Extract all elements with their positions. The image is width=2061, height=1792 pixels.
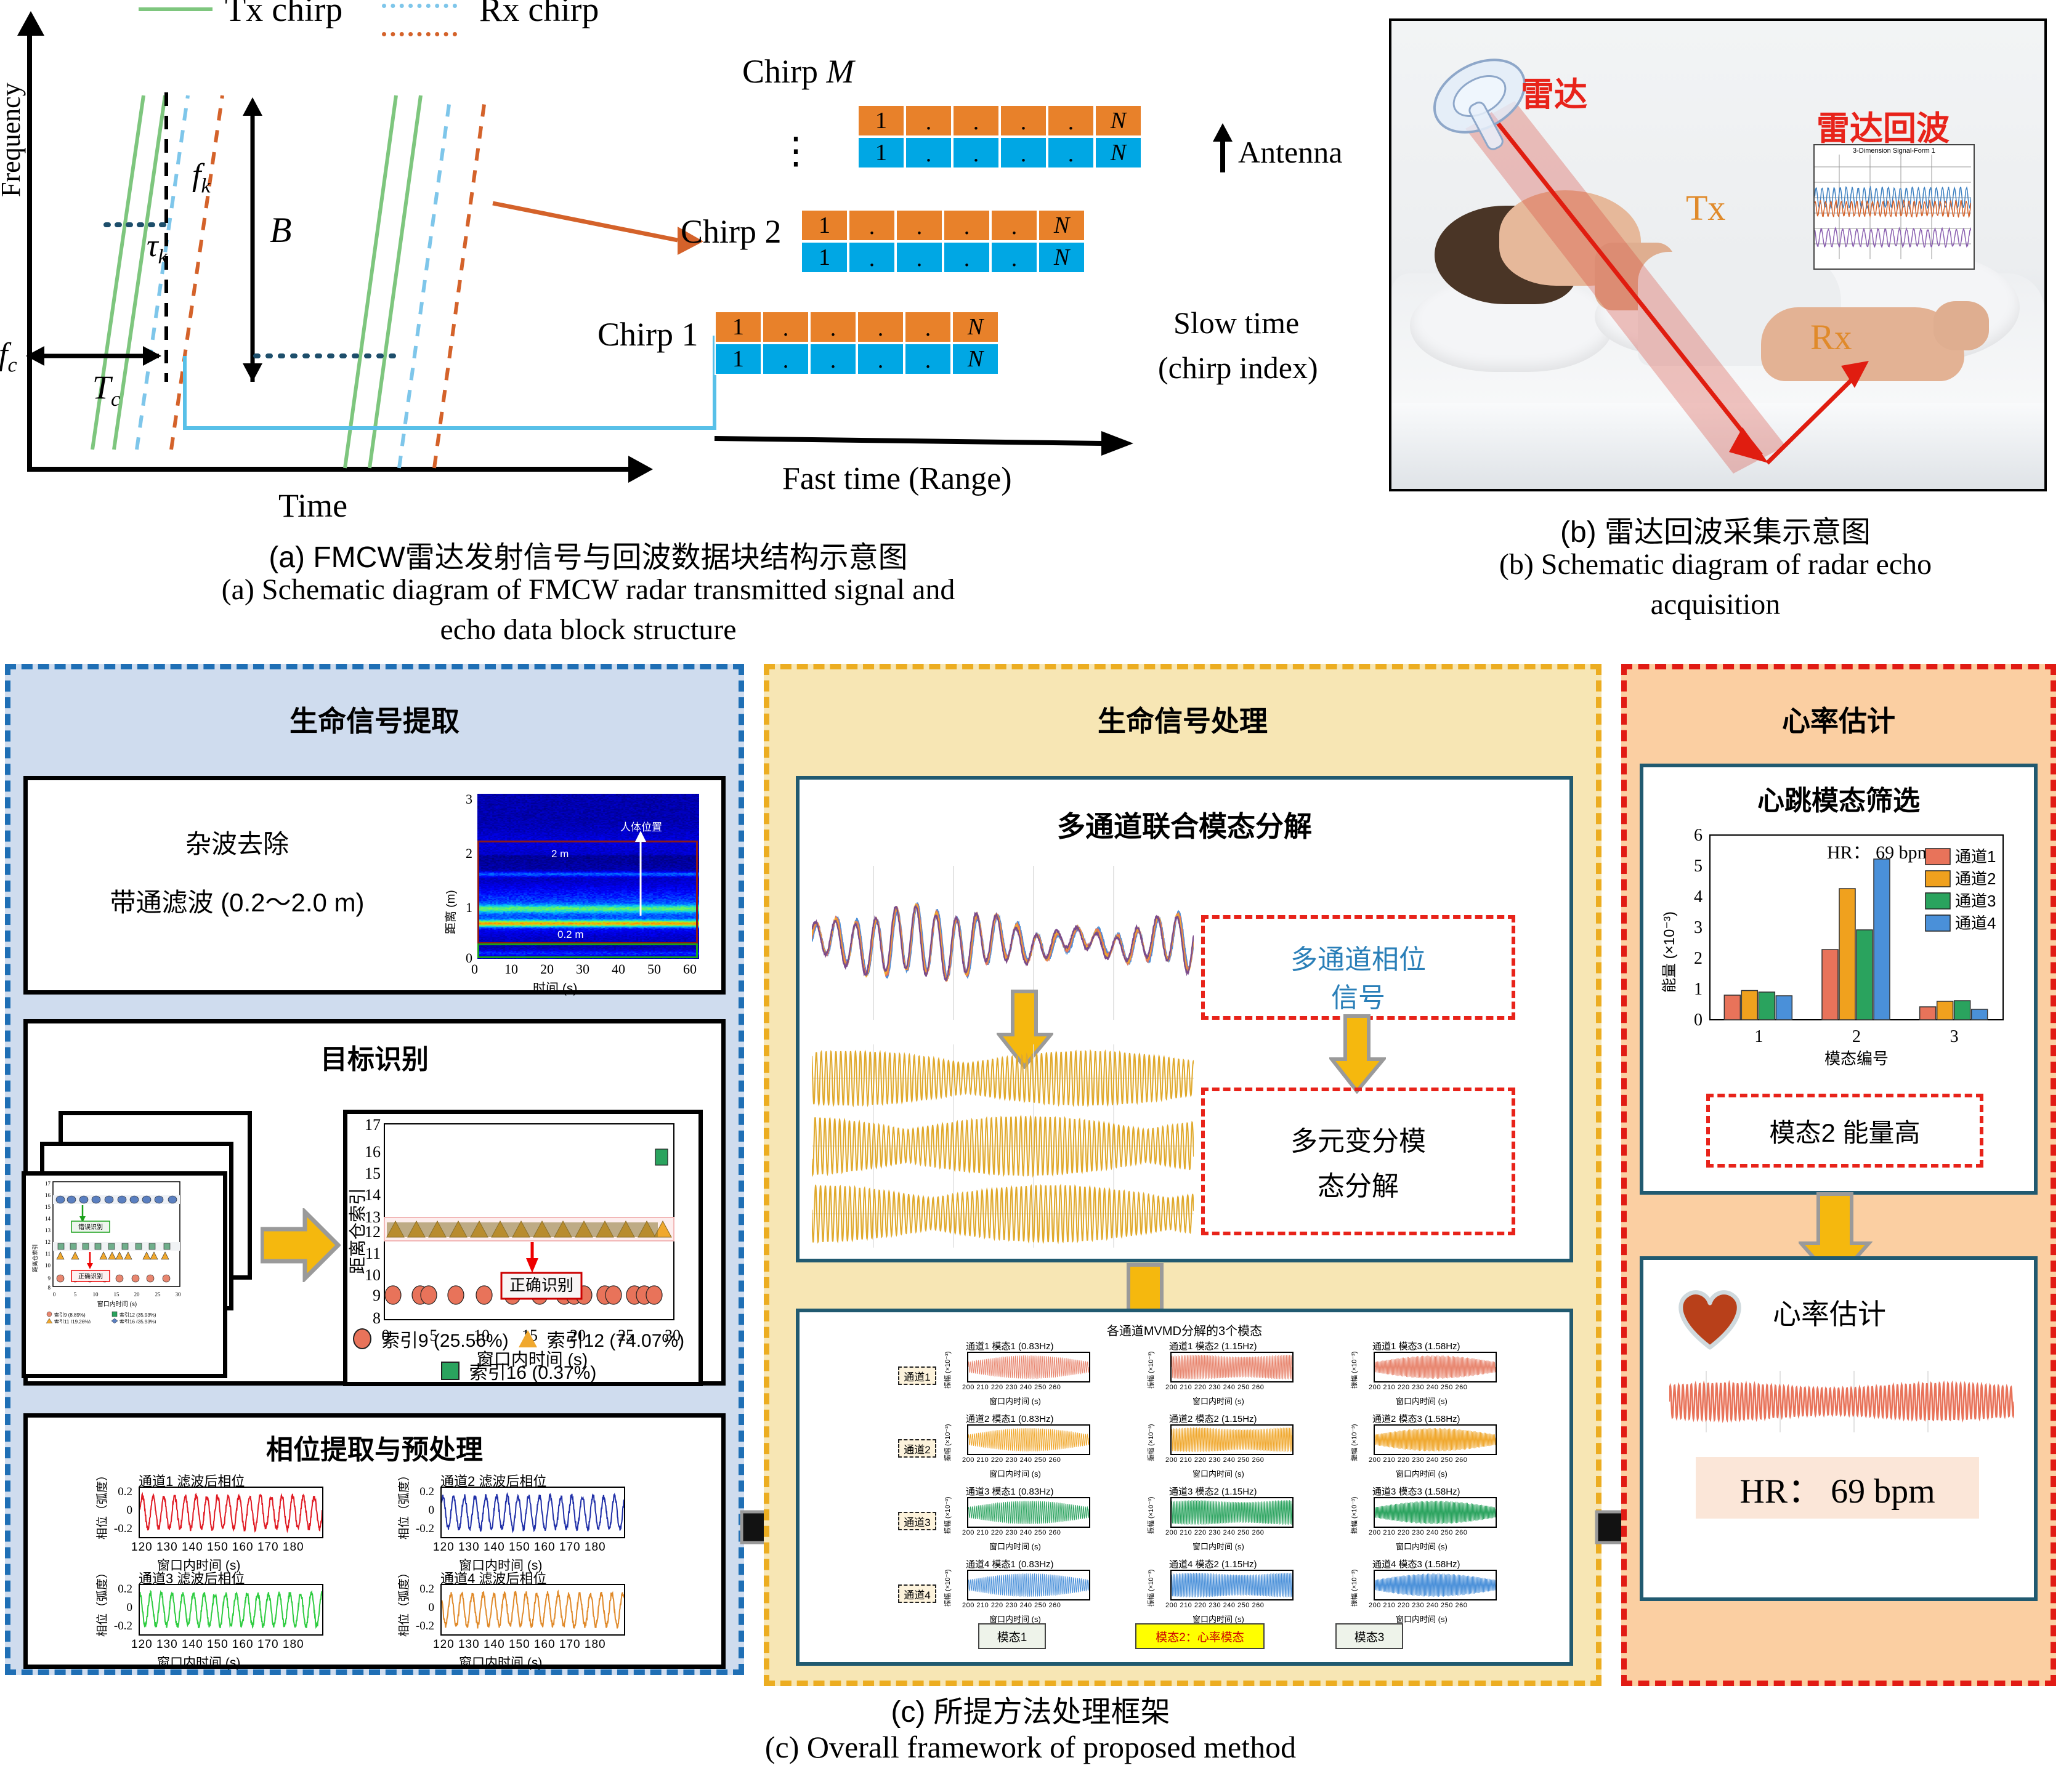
mvmd-subplot-plot bbox=[967, 1497, 1090, 1528]
target-recognition-legend: 索引9 (25.56%) 索引12 (74.07%) 索引16 (0.37%) bbox=[343, 1325, 694, 1384]
data-row-orange: 1 . . . . N bbox=[801, 209, 1085, 241]
slow-time-label-line2: (chirp index) bbox=[1158, 350, 1318, 385]
bar bbox=[1759, 992, 1775, 1020]
symbol-Tc-base: T bbox=[92, 369, 111, 406]
legend-label-index12: 索引12 (74.07%) bbox=[547, 1325, 684, 1352]
bar-chart-legend-label: 通道2 bbox=[1955, 870, 1996, 888]
chirp-m-block: 1 . . . . N 1 . . . . N bbox=[857, 105, 1142, 169]
cell-last: N bbox=[1038, 241, 1085, 273]
legend-row-1: 索引9 (25.56%) 索引12 (74.07%) bbox=[343, 1325, 694, 1352]
mvmd-subplot-plot bbox=[1170, 1424, 1294, 1455]
xtick: 50 bbox=[647, 961, 661, 977]
svg-text:25: 25 bbox=[155, 1291, 161, 1298]
phase-subplot: 通道2 滤波后相位相位（弧度）0.20-0.2120 130 140 150 1… bbox=[391, 1471, 681, 1563]
mvmd-subplot: 通道3 模态1 (0.83Hz)振幅 (×10⁻³)200 210 220 23… bbox=[941, 1485, 1132, 1554]
cell-dot: . bbox=[809, 343, 857, 375]
hr-estimation-title: 心率估计 bbox=[1773, 1292, 1886, 1333]
spectrogram-xlabel: 时间 (s) bbox=[533, 979, 577, 997]
cell-first: 1 bbox=[715, 311, 762, 343]
bar-chart-ylabel: 能量 (×10⁻³) bbox=[1661, 911, 1678, 993]
cell-dot: . bbox=[1047, 105, 1095, 137]
tag-multivariate-vmd: 多元变分模 态分解 bbox=[1201, 1088, 1515, 1235]
chirp-1-block: 1 . . . . N 1 . . . . N bbox=[715, 311, 999, 375]
mvmd-subplot-title: 通道3 模态1 (0.83Hz) bbox=[966, 1485, 1054, 1498]
svg-text:10: 10 bbox=[93, 1291, 99, 1298]
legend-small-2: 索引12 (35.93%) bbox=[119, 1312, 156, 1318]
mvmd-subplot-xlabel: 窗口内时间 (s) bbox=[1192, 1467, 1244, 1479]
b-arrow-up bbox=[243, 97, 262, 116]
yellow-arrow-down-right bbox=[1329, 1014, 1386, 1094]
mvmd-row-label: 通道2 bbox=[898, 1439, 936, 1458]
slow-time-label-line1: Slow time bbox=[1173, 305, 1299, 341]
cell-dot: . bbox=[896, 209, 943, 241]
cell-last: N bbox=[952, 343, 999, 375]
bar-chart-ytick: 5 bbox=[1694, 857, 1703, 876]
spectrogram-yticks: 3 2 1 0 bbox=[453, 791, 472, 958]
heatmap-annot-2m: 2 m bbox=[551, 848, 569, 860]
radar-dish-icon bbox=[1427, 53, 1532, 188]
phase-subplot-plot bbox=[440, 1487, 625, 1538]
mvmd-subplot-xlabel: 窗口内时间 (s) bbox=[1192, 1540, 1244, 1552]
mvmd-subplot-xticks: 200 210 220 230 240 250 260 bbox=[962, 1456, 1061, 1464]
panel-c-framework: 生命信号提取 杂波去除 带通滤波 (0.2～2.0 m) 距离 (m) 3 2 … bbox=[0, 640, 2061, 1687]
mvmd-row-label: 通道3 bbox=[898, 1512, 936, 1530]
bar bbox=[1972, 1009, 1988, 1020]
heatmap-green-roi bbox=[477, 943, 698, 958]
panel-a-caption-en-1: (a) Schematic diagram of FMCW radar tran… bbox=[0, 573, 1176, 607]
antenna-label: Antenna bbox=[1238, 134, 1342, 170]
bar-chart-ytick: 6 bbox=[1694, 826, 1703, 845]
mvmd-subplot-xlabel: 窗口内时间 (s) bbox=[1396, 1467, 1448, 1479]
symbol-B: B bbox=[270, 209, 291, 251]
phase-subplot-xticks: 120 130 140 150 160 170 180 bbox=[433, 1541, 636, 1554]
mvmd-subplot-plot bbox=[1170, 1570, 1294, 1600]
panel-b-caption-cn: (b) 雷达回波采集示意图 bbox=[1389, 507, 2042, 551]
fast-time-arrow bbox=[708, 425, 1140, 456]
mvmd-subplot-xticks: 200 210 220 230 240 250 260 bbox=[1369, 1456, 1467, 1464]
phase-subplot-xlabel: 窗口内时间 (s) bbox=[157, 1653, 240, 1671]
mode-tag-2-heart-rate: 模态2：心率模态 bbox=[1135, 1623, 1265, 1649]
mvmd-subplot-xlabel: 窗口内时间 (s) bbox=[989, 1467, 1041, 1479]
bar-chart-svg: 0123456123模态编号能量 (×10⁻³)HR： 69 bpm通道1通道2… bbox=[1653, 820, 2031, 1079]
symbol-tau-base: τ bbox=[147, 228, 158, 264]
phase-subplot-xlabel: 窗口内时间 (s) bbox=[459, 1653, 542, 1671]
mvmd-subplot-plot bbox=[967, 1570, 1090, 1600]
region-title-extraction: 生命信号提取 bbox=[10, 699, 739, 740]
cell-dot: . bbox=[848, 209, 896, 241]
bar bbox=[1822, 950, 1838, 1020]
tag-mode2-high-energy: 模态2 能量高 bbox=[1706, 1094, 1983, 1168]
card-clutter-removal: 杂波去除 带通滤波 (0.2～2.0 m) 距离 (m) 3 2 1 0 2 m… bbox=[23, 776, 726, 995]
mvmd-bottom-tags: 模态1 模态2：心率模态 模态3 bbox=[800, 1623, 1569, 1652]
legend-small-3: 索引11 (19.26%) bbox=[54, 1318, 91, 1323]
xtick: 10 bbox=[504, 961, 518, 977]
cell-last: N bbox=[952, 311, 999, 343]
phase-subplot: 通道1 滤波后相位相位（弧度）0.20-0.2120 130 140 150 1… bbox=[89, 1471, 379, 1563]
phase-subplot-yticks: 0.20-0.2 bbox=[407, 1585, 435, 1632]
bar-chart-xtick: 2 bbox=[1852, 1027, 1861, 1046]
mvmd-subplot: 通道1 模态2 (1.15Hz)振幅 (×10⁻³)200 210 220 23… bbox=[1144, 1339, 1335, 1408]
mode-tag-1: 模态1 bbox=[978, 1623, 1046, 1649]
mvmd-subplot-xticks: 200 210 220 230 240 250 260 bbox=[1165, 1602, 1264, 1609]
svg-text:错误识别: 错误识别 bbox=[78, 1223, 103, 1231]
cell-first: 1 bbox=[857, 105, 905, 137]
bar-chart-ytick: 1 bbox=[1694, 980, 1703, 999]
panel-c-caption-en: (c) Overall framework of proposed method bbox=[0, 1729, 2061, 1765]
svg-text:16: 16 bbox=[45, 1192, 51, 1198]
mvmd-subplot-title: 通道3 模态3 (1.58Hz) bbox=[1372, 1485, 1460, 1498]
callout-correct-recognition: 正确识别 bbox=[509, 1276, 573, 1294]
bar-chart-ytick: 2 bbox=[1694, 949, 1703, 968]
phase-subplot-grid: 通道1 滤波后相位相位（弧度）0.20-0.2120 130 140 150 1… bbox=[89, 1471, 681, 1661]
mvmd-subplot-xticks: 200 210 220 230 240 250 260 bbox=[962, 1529, 1061, 1536]
panel-a-fmcw-diagram: Tx chirp Rx chirp Frequency Time bbox=[0, 0, 1324, 622]
mvmd-subplot-title: 通道1 模态1 (0.83Hz) bbox=[966, 1339, 1054, 1352]
cell-dot: . bbox=[905, 105, 952, 137]
ytick: 2 bbox=[466, 846, 472, 862]
card-title-mode-selection: 心跳模态筛选 bbox=[1643, 778, 2034, 818]
svg-text:正确识别: 正确识别 bbox=[78, 1272, 103, 1280]
svg-text:13: 13 bbox=[45, 1227, 51, 1233]
cell-last: N bbox=[1095, 105, 1142, 137]
tag-line2: 信号 bbox=[1205, 975, 1512, 1015]
xtick: 40 bbox=[612, 961, 625, 977]
bar bbox=[1874, 859, 1890, 1020]
cell-last: N bbox=[1095, 137, 1142, 169]
mvmd-subplot-plot bbox=[1170, 1497, 1294, 1528]
mvmd-subplot-xlabel: 窗口内时间 (s) bbox=[1396, 1540, 1448, 1552]
chirp-m-word: Chirp bbox=[742, 53, 818, 90]
bar bbox=[1741, 991, 1757, 1020]
rx-label: Rx bbox=[1810, 317, 1852, 358]
bar-chart-legend-swatch bbox=[1925, 871, 1950, 887]
clutter-text-line2: 带通滤波 (0.2～2.0 m) bbox=[40, 882, 434, 919]
phase-subplot-xticks: 120 130 140 150 160 170 180 bbox=[131, 1541, 334, 1554]
bar-chart-xtick: 1 bbox=[1754, 1027, 1763, 1046]
symbol-tau-sub: k bbox=[158, 245, 168, 268]
cell-dot: . bbox=[990, 241, 1038, 273]
mvmd-row-label: 通道4 bbox=[898, 1584, 936, 1603]
tc-arrow-left bbox=[26, 346, 44, 366]
symbol-fc-sub: c bbox=[7, 353, 17, 376]
data-row-blue: 1 . . . . N bbox=[801, 241, 1085, 273]
echo-mini-plot-traces bbox=[1815, 155, 1971, 259]
svg-text:0: 0 bbox=[53, 1291, 56, 1298]
mode-signal-traces bbox=[812, 1044, 1194, 1248]
symbol-fc-base: f bbox=[0, 337, 7, 372]
svg-text:17: 17 bbox=[45, 1181, 51, 1187]
card-title-target-recognition: 目标识别 bbox=[28, 1037, 721, 1076]
mvmd-subplot: 通道3 模态2 (1.15Hz)振幅 (×10⁻³)200 210 220 23… bbox=[1144, 1485, 1335, 1554]
phase-subplot-xticks: 120 130 140 150 160 170 180 bbox=[131, 1638, 334, 1652]
data-row-orange: 1 . . . . N bbox=[715, 311, 999, 343]
cell-dot: . bbox=[943, 209, 990, 241]
card-title-joint-decomposition: 多通道联合模态分解 bbox=[800, 804, 1569, 845]
panel-b-caption-en-1: (b) Schematic diagram of radar echo bbox=[1389, 547, 2042, 581]
card-multichannel-decomposition: 多通道联合模态分解 多通道相位 信号 bbox=[796, 776, 1573, 1262]
phase-subplot-xticks: 120 130 140 150 160 170 180 bbox=[433, 1638, 636, 1652]
b-arrow-down bbox=[243, 363, 262, 382]
heatmap-annot-02m: 0.2 m bbox=[557, 929, 584, 941]
mvmd-subplot-xticks: 200 210 220 230 240 250 260 bbox=[1165, 1529, 1264, 1536]
stacked-plot-1-content: 错误识别 正确识别 17161514 13121110 98 051015 20… bbox=[26, 1178, 214, 1323]
svg-text:11: 11 bbox=[365, 1245, 381, 1262]
symbol-Tc: Tc bbox=[92, 368, 120, 411]
svg-text:15: 15 bbox=[114, 1291, 120, 1298]
data-row-blue: 1 . . . . N bbox=[715, 343, 999, 375]
mvmd-subplot: 通道1 模态3 (1.58Hz)振幅 (×10⁻³)200 210 220 23… bbox=[1348, 1339, 1539, 1408]
panel-c-caption-cn: (c) 所提方法处理框架 bbox=[0, 1687, 2061, 1730]
bar-chart-legend-swatch bbox=[1925, 915, 1950, 931]
radar-echo-label: 雷达回波 bbox=[1816, 101, 1950, 150]
mvmd-subplot: 通道2 模态1 (0.83Hz)振幅 (×10⁻³)200 210 220 23… bbox=[941, 1412, 1132, 1481]
mvmd-subplot-title: 通道2 模态1 (0.83Hz) bbox=[966, 1412, 1054, 1425]
mvmd-subplot-title: 通道1 模态3 (1.58Hz) bbox=[1372, 1339, 1460, 1352]
mvmd-subplot-grid: 通道1通道1 模态1 (0.83Hz)振幅 (×10⁻³)200 210 220… bbox=[800, 1336, 1569, 1625]
tag-line1: 多通道相位 bbox=[1205, 937, 1512, 977]
cell-dot: . bbox=[809, 311, 857, 343]
mvmd-subplot: 通道1 模态1 (0.83Hz)振幅 (×10⁻³)200 210 220 23… bbox=[941, 1339, 1132, 1408]
svg-text:20: 20 bbox=[134, 1291, 140, 1298]
cell-dot: . bbox=[904, 311, 952, 343]
cell-first: 1 bbox=[715, 343, 762, 375]
cell-dot: . bbox=[943, 241, 990, 273]
mvmd-subplot-title: 通道4 模态2 (1.15Hz) bbox=[1169, 1557, 1257, 1570]
bar-chart-legend-label: 通道1 bbox=[1955, 847, 1996, 866]
mvmd-subplot-xticks: 200 210 220 230 240 250 260 bbox=[1165, 1384, 1264, 1391]
bar-chart-legend-label: 通道3 bbox=[1955, 892, 1996, 910]
bar bbox=[1724, 995, 1740, 1020]
echo-mini-plot-title: 3-Dimension Signal-Form 1 bbox=[1815, 145, 1974, 155]
region-title-processing: 生命信号处理 bbox=[769, 699, 1596, 740]
svg-text:窗口内时间 (s): 窗口内时间 (s) bbox=[97, 1300, 137, 1308]
symbol-fc: fc bbox=[0, 336, 17, 377]
bar-chart-ytick: 3 bbox=[1694, 918, 1703, 937]
mvmd-subplot-xticks: 200 210 220 230 240 250 260 bbox=[962, 1602, 1061, 1609]
mvmd-subplot: 通道4 模态2 (1.15Hz)振幅 (×10⁻³)200 210 220 23… bbox=[1144, 1557, 1335, 1626]
card-hr-estimation-result: 心率估计 HR： 69 bpm bbox=[1640, 1256, 2038, 1601]
legend-small-1: 索引9 (8.89%) bbox=[54, 1312, 86, 1318]
bar bbox=[1954, 1001, 1970, 1020]
svg-text:16: 16 bbox=[365, 1143, 381, 1161]
cell-dot: . bbox=[1047, 137, 1095, 169]
mvmd-subplot-plot bbox=[1374, 1424, 1497, 1455]
bar-chart-ytick: 0 bbox=[1694, 1011, 1703, 1030]
svg-text:10: 10 bbox=[45, 1262, 51, 1269]
cell-dot: . bbox=[762, 311, 809, 343]
chirp-2-block: 1 . . . . N 1 . . . . N bbox=[801, 209, 1085, 273]
card-title-phase-extraction: 相位提取与预处理 bbox=[28, 1427, 721, 1467]
chirp-m-index: M bbox=[827, 53, 854, 90]
range-time-heatmap: 2 m 0.2 m 人体位置 bbox=[477, 794, 699, 959]
svg-text:12: 12 bbox=[45, 1239, 51, 1245]
tx-label: Tx bbox=[1686, 187, 1725, 228]
cell-dot: . bbox=[905, 137, 952, 169]
mvmd-subplot-plot bbox=[967, 1352, 1090, 1382]
phase-subplot-plot bbox=[139, 1487, 323, 1538]
mvmd-subplot-title: 通道4 模态1 (0.83Hz) bbox=[966, 1557, 1054, 1570]
mvmd-subplot-xticks: 200 210 220 230 240 250 260 bbox=[1369, 1529, 1467, 1536]
mvmd-subplot: 通道2 模态2 (1.15Hz)振幅 (×10⁻³)200 210 220 23… bbox=[1144, 1412, 1335, 1481]
legend-row-2: 索引16 (0.37%) bbox=[343, 1357, 694, 1384]
svg-text:17: 17 bbox=[365, 1116, 381, 1134]
bar bbox=[1776, 996, 1792, 1020]
tag-multichannel-phase-signal: 多通道相位 信号 bbox=[1201, 915, 1515, 1020]
ytick: 3 bbox=[466, 791, 472, 807]
symbol-fk: fk bbox=[192, 157, 211, 198]
bar-chart-hr-annotation: HR： 69 bpm bbox=[1827, 842, 1932, 863]
panel-b-caption-en-2: acquisition bbox=[1389, 587, 2042, 621]
symbol-Tc-sub: c bbox=[111, 388, 120, 411]
mvmd-subplot: 通道2 模态3 (1.58Hz)振幅 (×10⁻³)200 210 220 23… bbox=[1348, 1412, 1539, 1481]
heatmap-red-roi bbox=[477, 841, 698, 944]
stacked-plot-1: 错误识别 正确识别 17161514 13121110 98 051015 20… bbox=[22, 1171, 227, 1378]
ytick: 1 bbox=[466, 900, 472, 916]
cell-first: 1 bbox=[857, 137, 905, 169]
mvmd-subplot-plot bbox=[1170, 1352, 1294, 1382]
card-phase-extraction: 相位提取与预处理 通道1 滤波后相位相位（弧度）0.20-0.2120 130 … bbox=[23, 1413, 726, 1669]
target-plot-ylabel: 距离仓索引 bbox=[348, 1188, 367, 1274]
mvmd-subplot-xticks: 200 210 220 230 240 250 260 bbox=[1369, 1384, 1467, 1391]
mvmd-subplot: 通道4 模态3 (1.58Hz)振幅 (×10⁻³)200 210 220 23… bbox=[1348, 1557, 1539, 1626]
mvmd-subplot-xlabel: 窗口内时间 (s) bbox=[1396, 1395, 1448, 1407]
bar-chart-legend-label: 通道4 bbox=[1955, 914, 1996, 932]
bar-chart-legend-swatch bbox=[1925, 849, 1950, 865]
tag2-line2: 态分解 bbox=[1205, 1164, 1512, 1203]
cell-dot: . bbox=[952, 105, 1000, 137]
chirp-lines bbox=[0, 0, 739, 493]
bar-chart-xtick: 3 bbox=[1950, 1027, 1959, 1046]
svg-text:9: 9 bbox=[373, 1286, 381, 1304]
chirp-m-label: Chirp M bbox=[742, 52, 854, 91]
mvmd-subplot-title: 通道2 模态3 (1.58Hz) bbox=[1372, 1412, 1460, 1425]
phase-subplot-yticks: 0.20-0.2 bbox=[105, 1585, 134, 1632]
chirp-1-label: Chirp 1 bbox=[597, 315, 698, 353]
bar-chart-xlabel: 模态编号 bbox=[1824, 1049, 1889, 1068]
svg-text:距离仓索引: 距离仓索引 bbox=[31, 1244, 38, 1272]
tag-mode2-text: 模态2 能量高 bbox=[1710, 1097, 1980, 1164]
mvmd-subplot-plot bbox=[1374, 1352, 1497, 1382]
radar-label: 雷达 bbox=[1521, 67, 1587, 116]
legend-label-index9: 索引9 (25.56%) bbox=[381, 1325, 509, 1352]
heatmap-body-arrow bbox=[631, 829, 650, 916]
cell-dot: . bbox=[952, 137, 1000, 169]
data-row-blue: 1 . . . . N bbox=[857, 137, 1142, 169]
bar-chart-ytick: 4 bbox=[1694, 887, 1703, 906]
figure-root: Tx chirp Rx chirp Frequency Time bbox=[0, 0, 2061, 1792]
mvmd-subplot: 通道4 模态1 (0.83Hz)振幅 (×10⁻³)200 210 220 23… bbox=[941, 1557, 1132, 1626]
chirp-vertical-dots: ⋮ bbox=[777, 129, 814, 172]
mvmd-subplot-plot bbox=[967, 1424, 1090, 1455]
data-row-orange: 1 . . . . N bbox=[857, 105, 1142, 137]
symbol-fk-sub: k bbox=[201, 174, 210, 197]
mvmd-subplot-xlabel: 窗口内时间 (s) bbox=[989, 1540, 1041, 1552]
svg-text:9: 9 bbox=[48, 1275, 51, 1281]
mode-energy-bar-chart: 0123456123模态编号能量 (×10⁻³)HR： 69 bpm通道1通道2… bbox=[1653, 820, 2031, 1079]
bar-chart-legend-swatch bbox=[1925, 893, 1950, 909]
mvmd-subplot-xticks: 200 210 220 230 240 250 260 bbox=[1165, 1456, 1264, 1464]
svg-text:5: 5 bbox=[74, 1291, 77, 1298]
mvmd-subplot-title: 通道1 模态2 (1.15Hz) bbox=[1169, 1339, 1257, 1352]
cell-dot: . bbox=[857, 343, 904, 375]
mvmd-row-label: 通道1 bbox=[898, 1366, 936, 1385]
cell-first: 1 bbox=[801, 241, 848, 273]
symbol-tau-k: τk bbox=[147, 228, 168, 268]
xtick: 30 bbox=[576, 961, 589, 977]
phase-subplot-yticks: 0.20-0.2 bbox=[407, 1488, 435, 1535]
bar bbox=[1857, 930, 1873, 1020]
card-mvmd-modes-grid: 各通道MVMD分解的3个模态 通道1通道1 模态1 (0.83Hz)振幅 (×1… bbox=[796, 1309, 1573, 1666]
fast-time-label: Fast time (Range) bbox=[782, 461, 1012, 497]
region-title-hr-estimation: 心率估计 bbox=[1627, 699, 2051, 740]
cell-dot: . bbox=[1000, 105, 1047, 137]
svg-text:11: 11 bbox=[45, 1251, 51, 1257]
cell-dot: . bbox=[896, 241, 943, 273]
phase-subplot-plot bbox=[440, 1584, 625, 1636]
echo-mini-plot: 3-Dimension Signal-Form 1 bbox=[1813, 144, 1975, 270]
svg-text:8: 8 bbox=[373, 1309, 381, 1327]
legend-small-4: 索引16 (35.93%) bbox=[119, 1318, 156, 1323]
panel-a-caption-cn: (a) FMCW雷达发射信号与回波数据块结构示意图 bbox=[0, 533, 1176, 576]
mode-tag-3: 模态3 bbox=[1335, 1623, 1403, 1649]
svg-text:30: 30 bbox=[176, 1291, 182, 1298]
hr-value-badge: HR： 69 bpm bbox=[1696, 1457, 1979, 1519]
xtick: 0 bbox=[471, 961, 478, 977]
legend-marker-triangle-icon bbox=[519, 1330, 537, 1347]
mvmd-subplot-plot bbox=[1374, 1570, 1497, 1600]
chirp-2-label: Chirp 2 bbox=[681, 212, 782, 251]
cell-dot: . bbox=[990, 209, 1038, 241]
cell-dot: . bbox=[904, 343, 952, 375]
bar bbox=[1937, 1001, 1953, 1020]
svg-text:8: 8 bbox=[48, 1285, 51, 1291]
mvmd-subplot-plot bbox=[1374, 1497, 1497, 1528]
symbol-fk-base: f bbox=[192, 158, 201, 193]
bar bbox=[1920, 1007, 1936, 1020]
cell-last: N bbox=[1038, 209, 1085, 241]
clutter-text-line1: 杂波去除 bbox=[65, 823, 410, 861]
phase-subplot-yticks: 0.20-0.2 bbox=[105, 1488, 134, 1535]
mvmd-subplot: 通道3 模态3 (1.58Hz)振幅 (×10⁻³)200 210 220 23… bbox=[1348, 1485, 1539, 1554]
phase-subplot: 通道3 滤波后相位相位（弧度）0.20-0.2120 130 140 150 1… bbox=[89, 1568, 379, 1660]
svg-text:15: 15 bbox=[365, 1164, 381, 1182]
yellow-arrow-right bbox=[261, 1208, 341, 1282]
card-heartbeat-mode-selection: 心跳模态筛选 0123456123模态编号能量 (×10⁻³)HR： 69 bp… bbox=[1640, 764, 2038, 1195]
cell-dot: . bbox=[857, 311, 904, 343]
cell-dot: . bbox=[848, 241, 896, 273]
mvmd-subplot-xlabel: 窗口内时间 (s) bbox=[989, 1395, 1041, 1407]
mvmd-subplot-xlabel: 窗口内时间 (s) bbox=[1192, 1395, 1244, 1407]
antenna-arrow-icon bbox=[1210, 123, 1235, 172]
cell-dot: . bbox=[762, 343, 809, 375]
legend-label-index16: 索引16 (0.37%) bbox=[469, 1357, 597, 1384]
bar bbox=[1839, 889, 1855, 1020]
xtick: 60 bbox=[683, 961, 697, 977]
svg-text:15: 15 bbox=[45, 1204, 51, 1210]
svg-text:14: 14 bbox=[45, 1216, 51, 1222]
tag2-line1: 多元变分模 bbox=[1205, 1119, 1512, 1158]
hr-waveform bbox=[1669, 1371, 2014, 1432]
panel-b-radar-photo: 雷达 雷达回波 Tx Rx 3-Dimension Signal-Form 1 … bbox=[1389, 18, 2047, 491]
phase-subplot: 通道4 滤波后相位相位（弧度）0.20-0.2120 130 140 150 1… bbox=[391, 1568, 681, 1660]
mvmd-subplot-title: 通道2 模态2 (1.15Hz) bbox=[1169, 1412, 1257, 1425]
mvmd-subplot-xticks: 200 210 220 230 240 250 260 bbox=[962, 1384, 1061, 1391]
mvmd-subplot-title: 通道4 模态3 (1.58Hz) bbox=[1372, 1557, 1460, 1570]
xtick: 20 bbox=[540, 961, 554, 977]
mvmd-subplot-xticks: 200 210 220 230 240 250 260 bbox=[1369, 1602, 1467, 1609]
legend-marker-square-icon bbox=[441, 1362, 460, 1380]
phase-subplot-plot bbox=[139, 1584, 323, 1636]
